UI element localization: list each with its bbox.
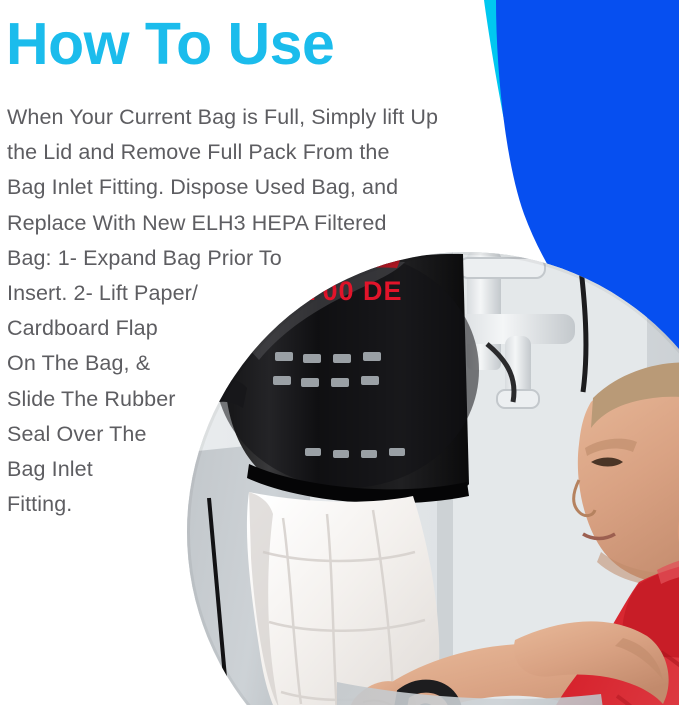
cyan-stripe-shape [484,0,600,290]
instructions-line: the Lid and Remove Full Pack From the [7,135,477,170]
how-to-use-infographic: How To Use When Your Current Bag is Full… [0,0,679,705]
pipe-drop-cap [497,390,539,408]
instruction-photo: S 700 DE [187,252,679,705]
instructions-line: When Your Current Bag is Full, Simply li… [7,100,477,135]
instruction-photo-scene: S 700 DE [187,252,679,705]
page-title: How To Use [6,14,334,76]
instructions-line: Bag Inlet Fitting. Dispose Used Bag, and [7,170,477,205]
instructions-line: Replace With New ELH3 HEPA Filtered [7,206,477,241]
